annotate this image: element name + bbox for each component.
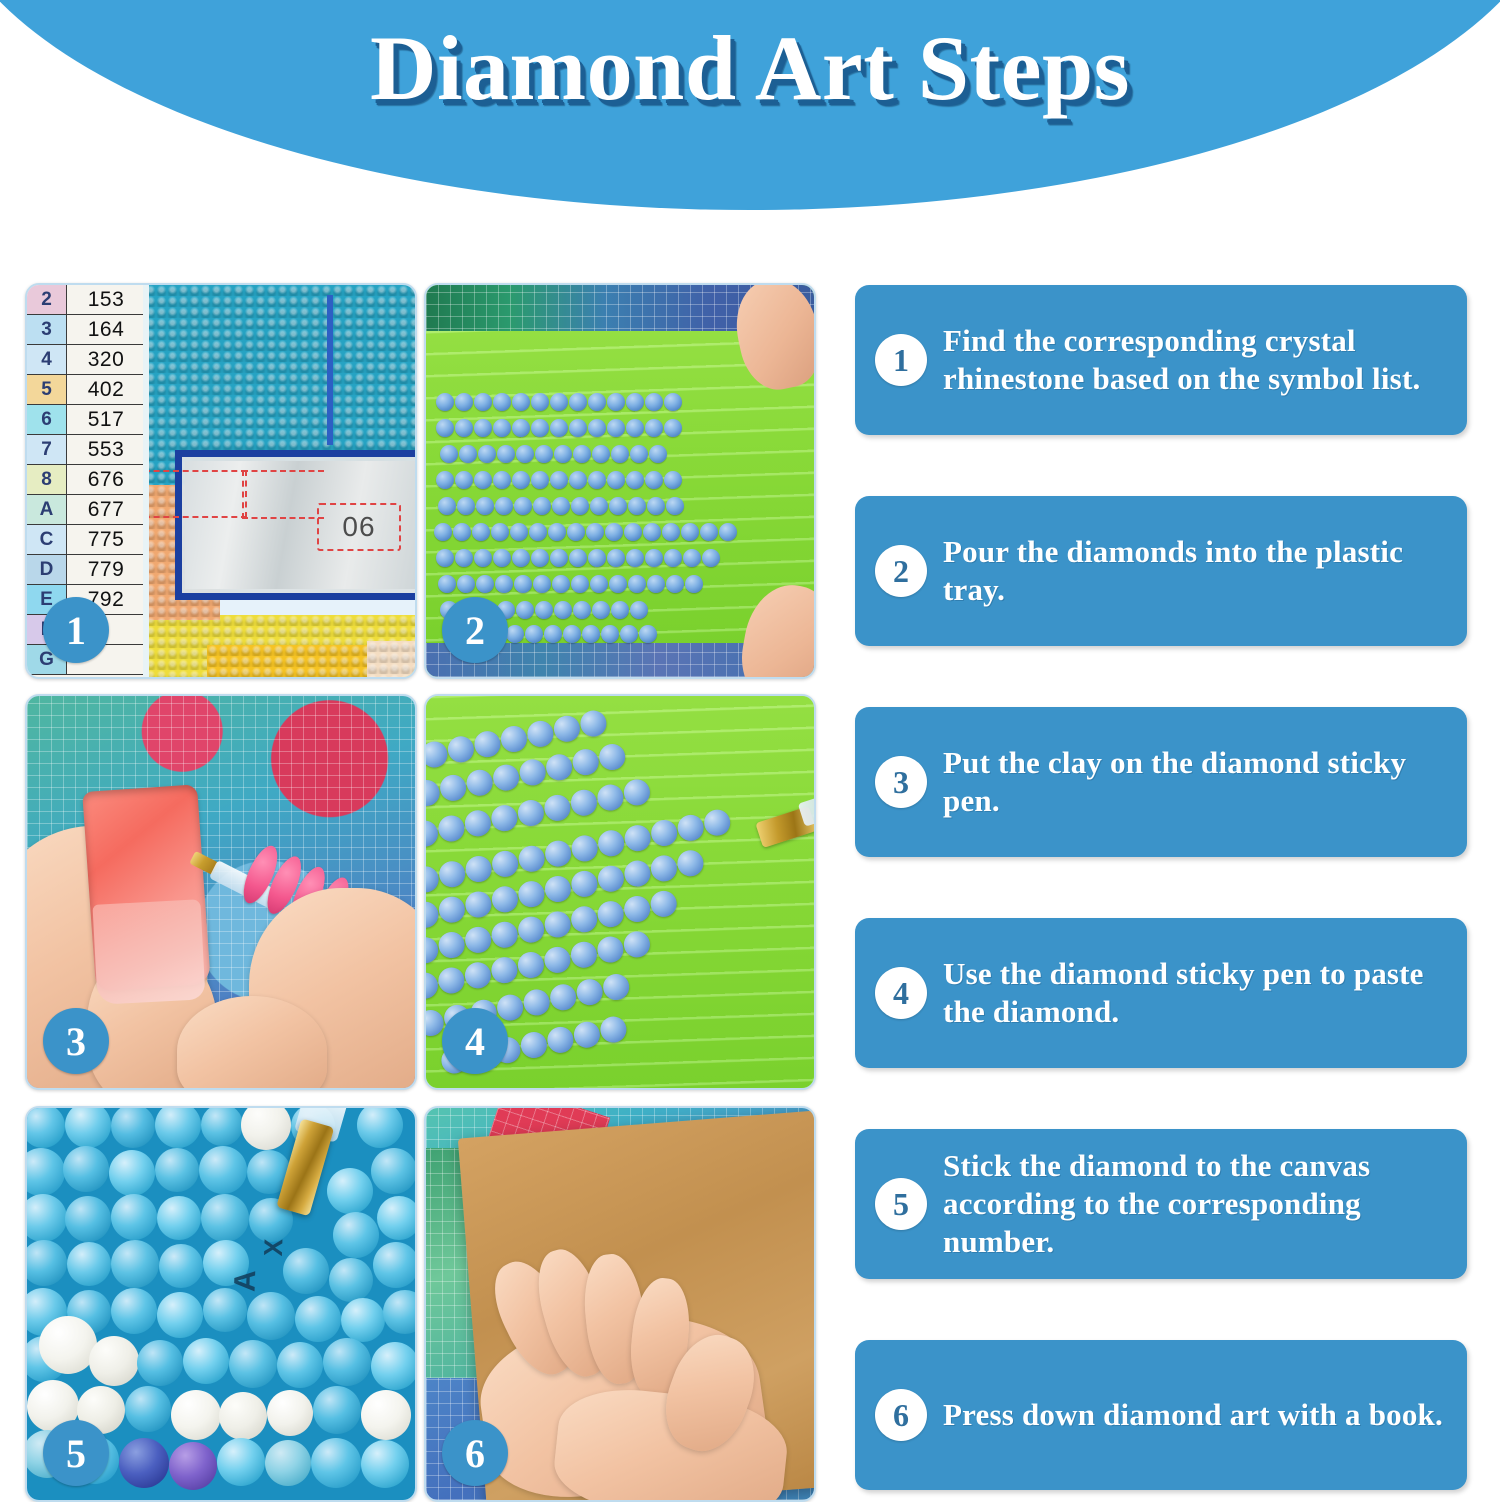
bag-number-label: 06 [317, 503, 401, 551]
canvas-blue-stripe [327, 295, 333, 445]
diamond-gem [373, 1242, 417, 1288]
diamond-gem [63, 1146, 109, 1192]
step-text-4: Use the diamond sticky pen to paste the … [943, 955, 1445, 1031]
diamond-gem-white [361, 1390, 411, 1440]
table-row: 7 553 [27, 435, 145, 465]
number-cell: 402 [67, 375, 145, 404]
table-row: 8 676 [27, 465, 145, 495]
number-cell: 320 [67, 345, 145, 374]
step-box-5[interactable]: 5 Stick the diamond to the canvas accord… [855, 1129, 1467, 1279]
canvas-bead-texture [367, 641, 415, 677]
table-row: 4 320 [27, 345, 145, 375]
step-text-3: Put the clay on the diamond sticky pen. [943, 744, 1445, 820]
diamond-gem-white [219, 1392, 267, 1440]
table-edge-strip [143, 285, 149, 677]
diamond-gem [277, 1342, 323, 1388]
panel-badge-2: 2 [442, 597, 508, 663]
symbol-cell: 8 [27, 465, 67, 494]
diamond-gem-white [267, 1390, 313, 1436]
diamond-gem [247, 1292, 295, 1340]
diamond-gem [377, 1196, 417, 1240]
diamond-gem [111, 1106, 155, 1148]
panel-badge-1: 1 [43, 597, 109, 663]
diamond-gem [159, 1244, 203, 1288]
diamond-gem [295, 1296, 341, 1342]
diamond-gem [329, 1258, 373, 1302]
number-cell: 153 [67, 285, 145, 314]
symbol-cell: 6 [27, 405, 67, 434]
diamond-gem-white [171, 1390, 221, 1440]
number-cell: 517 [67, 405, 145, 434]
step-text-6: Press down diamond art with a book. [943, 1396, 1443, 1434]
diamond-row [438, 575, 703, 594]
diamond-gem [217, 1438, 265, 1486]
table-row: 2 153 [27, 285, 145, 315]
diamond-gem [203, 1288, 247, 1332]
panel-badge-5: 5 [43, 1420, 109, 1486]
diamond-row [436, 393, 682, 412]
diamond-row [436, 471, 682, 490]
step-number-badge-6: 6 [875, 1389, 927, 1441]
number-cell: 779 [67, 555, 145, 584]
diamond-gem [111, 1288, 157, 1334]
table-row-highlighted: 6 517 [27, 405, 145, 435]
canvas-peach-region [367, 641, 415, 677]
highlight-connector-dashed [242, 470, 324, 519]
diamond-gem [283, 1248, 329, 1294]
number-cell: 164 [67, 315, 145, 344]
panel-badge-3: 3 [43, 1008, 109, 1074]
step-number-badge-3: 3 [875, 756, 927, 808]
diamond-gem-navy [119, 1438, 169, 1488]
diamond-row [436, 549, 720, 568]
panel-badge-4: 4 [442, 1008, 508, 1074]
table-row: D 779 [27, 555, 145, 585]
diamond-gem [323, 1338, 371, 1386]
table-row: C 775 [27, 525, 145, 555]
symbol-cell: A [27, 495, 67, 524]
diamond-gem [67, 1242, 111, 1286]
photo-panel-4: 4 [424, 694, 816, 1090]
step-number-badge-4: 4 [875, 967, 927, 1019]
header-banner: Diamond Art Steps [0, 0, 1500, 212]
diamond-gem [199, 1146, 247, 1194]
step-text-5: Stick the diamond to the canvas accordin… [943, 1147, 1445, 1260]
symbol-cell: D [27, 555, 67, 584]
diamond-gem [137, 1340, 183, 1386]
step-box-4[interactable]: 4 Use the diamond sticky pen to paste th… [855, 918, 1467, 1068]
diamond-gem [311, 1438, 361, 1488]
diamond-row [440, 445, 667, 464]
diamond-gem [155, 1148, 199, 1192]
diamond-gem [157, 1292, 203, 1338]
diamond-gem [371, 1148, 417, 1194]
diamond-gem [265, 1440, 311, 1486]
diamond-gem [111, 1194, 157, 1240]
diamond-gem [201, 1106, 243, 1146]
diamond-gem [229, 1340, 277, 1388]
canvas-bead-texture [207, 645, 367, 677]
symbol-cell: 2 [27, 285, 67, 314]
diamond-gem-white [89, 1336, 139, 1386]
diamond-gem-purple [169, 1442, 217, 1490]
canvas-gold-region [207, 645, 367, 677]
diamond-gem [361, 1440, 409, 1488]
step-box-3[interactable]: 3 Put the clay on the diamond sticky pen… [855, 707, 1467, 857]
photo-panel-6: 6 [424, 1106, 816, 1502]
photo-panel-2: 2 [424, 283, 816, 679]
canvas-symbol-letter: X [258, 1238, 290, 1256]
diamond-gem [201, 1194, 249, 1242]
diamond-gem [111, 1240, 159, 1288]
diamond-row [436, 419, 682, 438]
step-box-1[interactable]: 1 Find the corresponding crystal rhinest… [855, 285, 1467, 435]
table-row: A 677 [27, 495, 145, 525]
diamond-gem [183, 1338, 229, 1384]
photo-panel-5: X A [25, 1106, 417, 1502]
symbol-cell: C [27, 525, 67, 554]
diamond-gem [341, 1298, 385, 1342]
table-row: 3 164 [27, 315, 145, 345]
diamond-gem-white [39, 1316, 97, 1374]
diamond-gem [371, 1342, 417, 1390]
diamond-gem [333, 1212, 379, 1258]
diamond-row [438, 497, 684, 516]
page-title: Diamond Art Steps [0, 18, 1500, 119]
table-row: 5 402 [27, 375, 145, 405]
symbol-cell: 4 [27, 345, 67, 374]
number-cell: 676 [67, 465, 145, 494]
step-number-badge-2: 2 [875, 545, 927, 597]
step-number-badge-1: 1 [875, 334, 927, 386]
panel-badge-6: 6 [442, 1420, 508, 1486]
number-cell: 553 [67, 435, 145, 464]
diamond-gem [125, 1386, 171, 1432]
diamond-row [434, 523, 737, 542]
step-box-6[interactable]: 6 Press down diamond art with a book. [855, 1340, 1467, 1490]
diamond-gem [157, 1196, 201, 1240]
step-text-1: Find the corresponding crystal rhineston… [943, 322, 1445, 398]
diamond-gem [327, 1168, 373, 1214]
photo-panel-1: 06 2 153 3 164 4 320 5 402 6 517 [25, 283, 417, 679]
number-cell: 677 [67, 495, 145, 524]
symbol-cell: 3 [27, 315, 67, 344]
step-text-2: Pour the diamonds into the plastic tray. [943, 533, 1445, 609]
step-number-badge-5: 5 [875, 1178, 927, 1230]
diamond-gem [109, 1150, 155, 1196]
photo-panel-3: 3 [25, 694, 417, 1090]
diamond-gem [313, 1386, 361, 1434]
pink-clay-fold [92, 899, 205, 1005]
symbol-cell: 7 [27, 435, 67, 464]
number-cell: 775 [67, 525, 145, 554]
symbol-cell: 5 [27, 375, 67, 404]
diamond-gem [65, 1196, 111, 1242]
step-box-2[interactable]: 2 Pour the diamonds into the plastic tra… [855, 496, 1467, 646]
